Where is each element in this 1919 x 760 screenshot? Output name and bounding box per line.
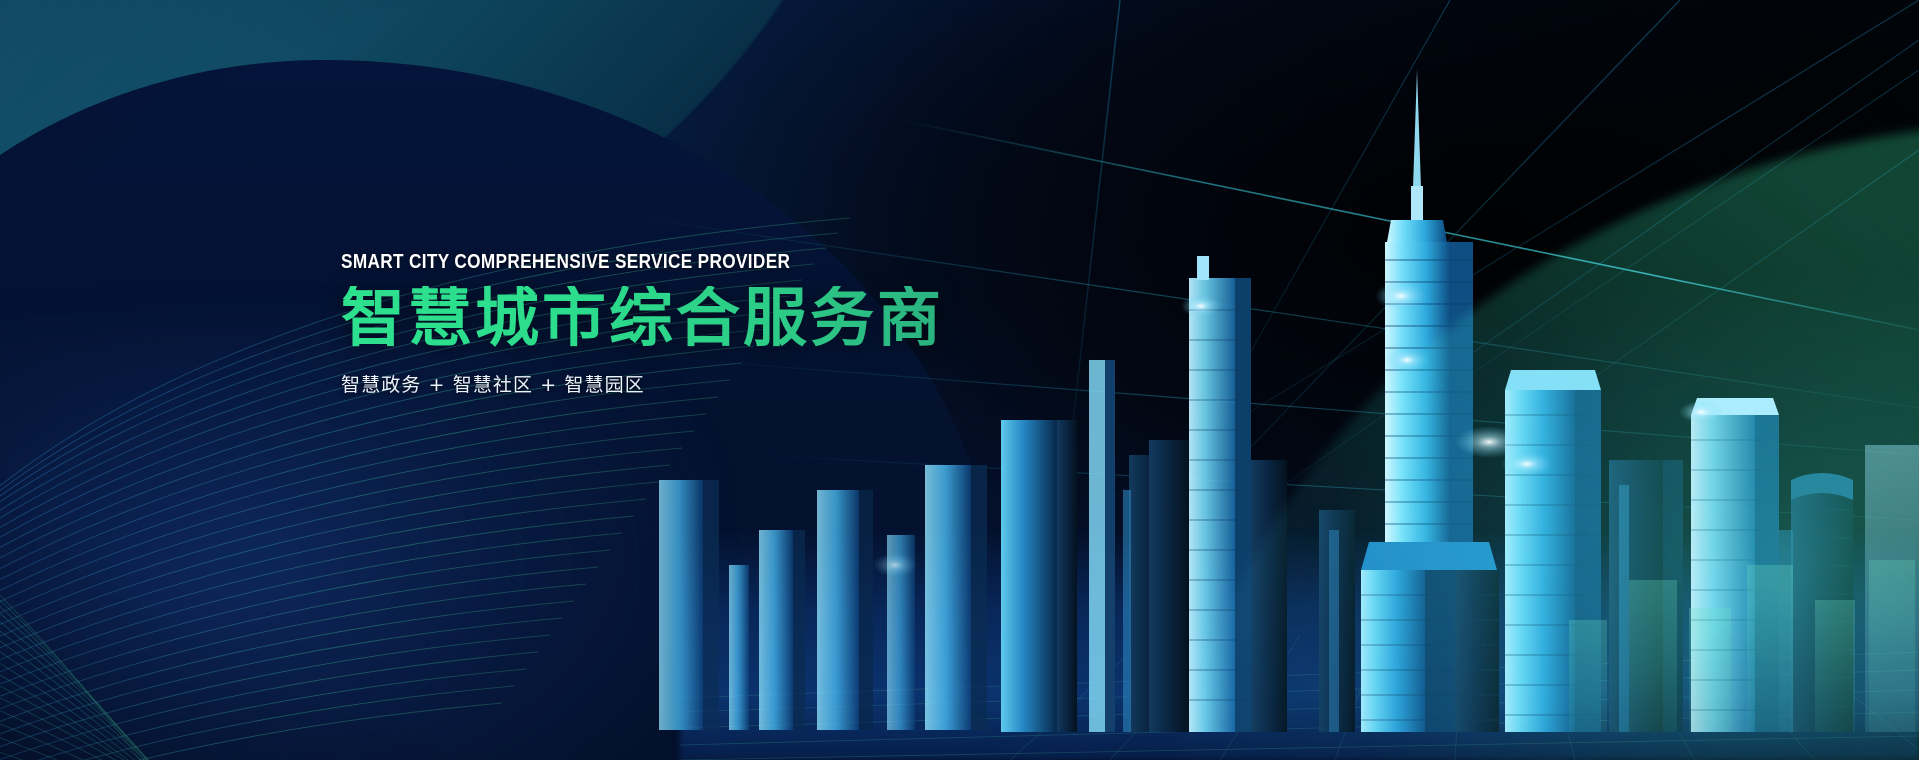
headline-text-block: SMART CITY COMPREHENSIVE SERVICE PROVIDE…	[341, 252, 1061, 397]
eyebrow-tagline: SMART CITY COMPREHENSIVE SERVICE PROVIDE…	[341, 252, 960, 272]
smart-city-banner: SMART CITY COMPREHENSIVE SERVICE PROVIDE…	[0, 0, 1919, 760]
page-title: 智慧城市综合服务商	[341, 286, 1061, 354]
green-glow	[1359, 300, 1919, 760]
subtitle: 智慧政务 + 智慧社区 + 智慧园区	[341, 370, 1061, 397]
